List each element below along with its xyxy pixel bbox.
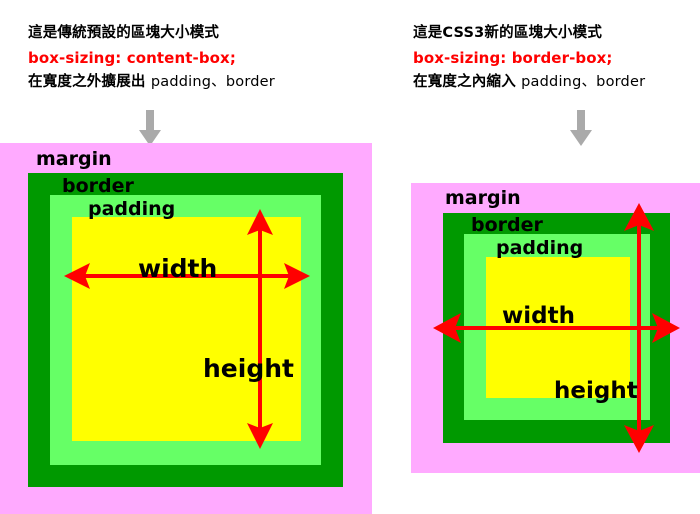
caption-right-line1: 這是CSS3新的區塊大小模式 — [413, 22, 645, 46]
height-measure-arrow — [622, 203, 656, 453]
diagram-canvas: 這是傳統預設的區塊大小模式 box-sizing: content-box; 在… — [0, 0, 700, 514]
caption-right-code: box-sizing: border-box; — [413, 46, 645, 71]
width-label: width — [138, 256, 217, 281]
arrow-down-icon — [570, 110, 592, 148]
box-model-diagram-content-box: margin border padding width height — [0, 143, 372, 514]
caption-left-line3-latin: padding、border — [151, 74, 275, 90]
caption-border-box: 這是CSS3新的區塊大小模式 box-sizing: border-box; 在… — [413, 22, 645, 95]
caption-content-box: 這是傳統預設的區塊大小模式 box-sizing: content-box; 在… — [28, 22, 275, 95]
height-measure-arrow — [243, 209, 277, 449]
caption-right-line3: 在寬度之內縮入 padding、border — [413, 71, 645, 95]
caption-right-line3-latin: padding、border — [521, 74, 645, 90]
caption-left-code: box-sizing: content-box; — [28, 46, 275, 71]
margin-label: margin — [445, 189, 521, 208]
height-label: height — [203, 356, 294, 381]
caption-left-line3-cjk: 在寬度之外擴展出 — [28, 74, 151, 90]
border-label: border — [62, 177, 134, 196]
caption-left-line3: 在寬度之外擴展出 padding、border — [28, 71, 275, 95]
caption-right-line3-cjk: 在寬度之內縮入 — [413, 74, 521, 90]
width-label: width — [502, 305, 575, 328]
padding-label: padding — [88, 200, 175, 219]
caption-left-line1: 這是傳統預設的區塊大小模式 — [28, 22, 275, 46]
border-label: border — [471, 216, 543, 235]
padding-label: padding — [496, 239, 583, 258]
height-label: height — [554, 380, 638, 403]
margin-label: margin — [36, 150, 112, 169]
box-model-diagram-border-box: margin border padding width height — [411, 183, 700, 473]
